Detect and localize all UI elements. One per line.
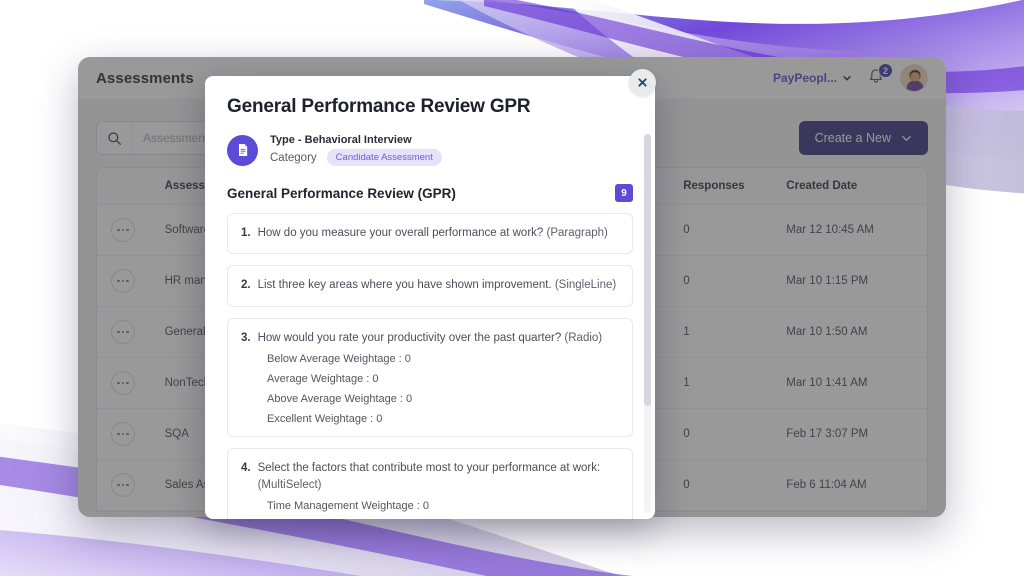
question-card: 2.List three key areas where you have sh… <box>227 265 633 306</box>
question-type: (Paragraph) <box>547 227 608 239</box>
questions-section-header: General Performance Review (GPR) 9 <box>227 184 633 202</box>
category-chip: Candidate Assessment <box>327 149 442 166</box>
question-number: 4. <box>241 462 251 474</box>
screen: Assessments PayPeopl... 2 <box>0 0 1024 576</box>
modal-scrollbar-thumb[interactable] <box>644 134 651 406</box>
close-modal-button[interactable] <box>629 69 656 96</box>
question-option: Average Weightage : 0 <box>267 373 619 385</box>
question-text: List three key areas where you have show… <box>258 277 617 294</box>
assessment-category-row: Category Candidate Assessment <box>270 149 442 166</box>
category-label: Category <box>270 152 317 164</box>
question-type: (MultiSelect) <box>258 479 322 491</box>
question-option: Excellent Weightage : 0 <box>267 413 619 425</box>
document-icon <box>227 135 258 166</box>
question-header: 3.How would you rate your productivity o… <box>241 330 619 347</box>
modal-meta: Type - Behavioral Interview Category Can… <box>227 134 633 166</box>
question-option: Below Average Weightage : 0 <box>267 353 619 365</box>
question-type: (Radio) <box>564 332 602 344</box>
question-header: 4.Select the factors that contribute mos… <box>241 460 619 495</box>
question-options: Time Management Weightage : 0Skill Devel… <box>267 500 619 519</box>
question-options: Below Average Weightage : 0Average Weigh… <box>267 353 619 425</box>
question-text: How do you measure your overall performa… <box>258 225 608 242</box>
questions-list: 1.How do you measure your overall perfor… <box>227 213 633 519</box>
modal-meta-lines: Type - Behavioral Interview Category Can… <box>270 134 442 166</box>
question-number: 2. <box>241 279 251 291</box>
question-count-badge: 9 <box>615 184 633 202</box>
questions-section-title: General Performance Review (GPR) <box>227 186 456 201</box>
question-type: (SingleLine) <box>555 279 616 291</box>
modal-content: General Performance Review GPR Type - Be… <box>205 76 655 519</box>
question-card: 3.How would you rate your productivity o… <box>227 318 633 437</box>
modal-title: General Performance Review GPR <box>227 96 633 118</box>
question-number: 3. <box>241 332 251 344</box>
close-icon <box>637 77 648 88</box>
assessment-detail-modal: General Performance Review GPR Type - Be… <box>205 76 655 519</box>
question-option: Time Management Weightage : 0 <box>267 500 619 512</box>
question-header: 1.How do you measure your overall perfor… <box>241 225 619 242</box>
question-text: How would you rate your productivity ove… <box>258 330 603 347</box>
question-card: 4.Select the factors that contribute mos… <box>227 448 633 519</box>
modal-scrollbar[interactable] <box>644 134 651 513</box>
question-text: Select the factors that contribute most … <box>258 460 619 495</box>
document-glyph-icon <box>235 142 251 158</box>
assessment-type: Type - Behavioral Interview <box>270 134 442 146</box>
question-header: 2.List three key areas where you have sh… <box>241 277 619 294</box>
question-option: Above Average Weightage : 0 <box>267 393 619 405</box>
question-card: 1.How do you measure your overall perfor… <box>227 213 633 254</box>
question-number: 1. <box>241 227 251 239</box>
